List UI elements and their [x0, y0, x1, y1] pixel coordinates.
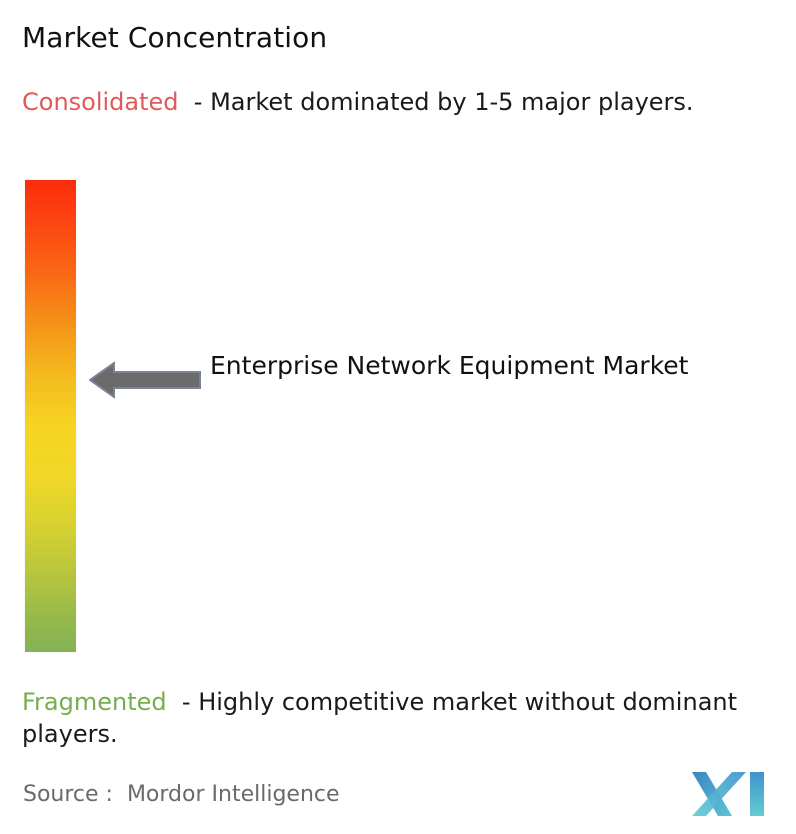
source-attribution: Source : Mordor Intelligence [23, 780, 340, 810]
market-concentration-scale-bar [25, 180, 76, 652]
legend-description-consolidated: Market dominated by 1-5 major players. [210, 88, 693, 116]
legend-separator-consolidated: - [179, 88, 211, 116]
legend-separator-fragmented: - [167, 688, 199, 716]
legend-consolidated: Consolidated - Market dominated by 1-5 m… [22, 86, 778, 118]
legend-fragmented: Fragmented - Highly competitive market w… [22, 686, 792, 750]
page-title: Market Concentration [22, 20, 327, 56]
marker-arrow-icon [89, 360, 201, 400]
marker-label: Enterprise Network Equipment Market [210, 348, 688, 384]
legend-key-consolidated: Consolidated [22, 88, 179, 116]
legend-key-fragmented: Fragmented [22, 688, 167, 716]
mordor-intelligence-logo-icon [692, 772, 764, 816]
